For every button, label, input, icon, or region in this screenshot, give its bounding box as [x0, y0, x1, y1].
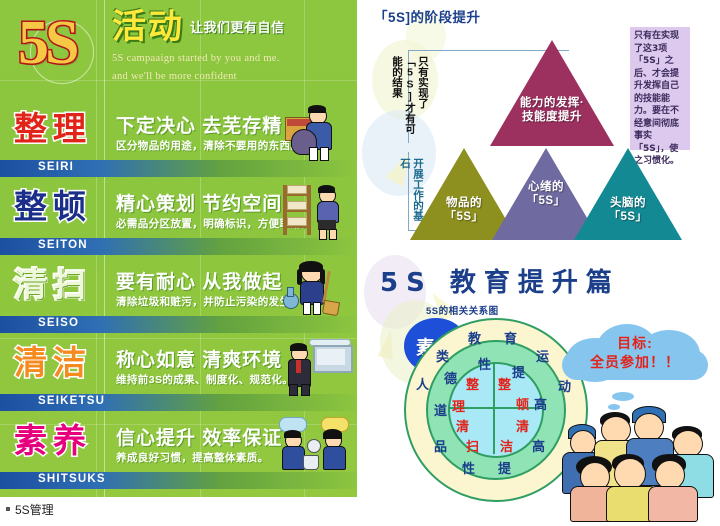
row-kanji-seiketsu: 清洁 — [14, 343, 106, 383]
mid-char-4: 高 — [534, 394, 547, 413]
triangle-base-mind — [574, 148, 682, 240]
row-romaji-seiton: SEITON — [38, 239, 88, 251]
triangle-base-mind-label: 头脑的 「5S」 — [582, 196, 674, 224]
header-title-cn: 活动 — [112, 6, 184, 48]
row-art-man-on-shelf-ladder — [279, 183, 353, 239]
people-illustration — [560, 398, 716, 520]
row-slogan-seiri: 下定决心 去芜存精 — [116, 111, 282, 138]
row-kanji-shitsuke: 素养 — [14, 421, 106, 461]
inner-char-7: 洁 — [500, 436, 513, 455]
poster-caption: 5S管理 — [6, 501, 54, 518]
row-art-man-presenting-board — [279, 339, 353, 395]
mid-char-2: 性 — [478, 354, 491, 373]
header-subtitle-cn: 让我们更有自信 — [190, 17, 285, 36]
poster-header-text: 活动让我们更有自信 5S campaaign started by you an… — [112, 6, 352, 84]
header-english-line1: 5S campaaign started by you and me. — [112, 52, 352, 66]
mid-char-6: 性 — [462, 458, 475, 477]
5s-logo: 5S — [18, 14, 114, 90]
bullet-icon — [6, 507, 10, 511]
outer-char-2: 教 — [468, 328, 481, 347]
poster-caption-text: 5S管理 — [15, 503, 54, 517]
purple-note-box: 只有在实现了这3项「5S」之后、才会提升发挥自己的技能能力。要在不经意间彻底事实… — [630, 27, 690, 150]
inner-char-3: 顿 — [516, 394, 529, 413]
inner-char-6: 扫 — [466, 436, 479, 455]
mid-char-1: 德 — [444, 368, 457, 387]
poster-row-seiri: 整理 下定决心 去芜存精 区分物品的用途，清除不要用的东西。 SEIRI — [0, 105, 357, 183]
left-note-top: 只有实现了「5S]才有可能的结果 — [390, 56, 429, 142]
outer-char-3: 育 — [504, 328, 517, 347]
row-kanji-seiso: 清扫 — [14, 265, 106, 305]
triangle-top-capability — [490, 40, 614, 146]
inner-char-0: 整 — [466, 374, 479, 393]
triangle-top-label: 能力的发挥· 技能度提升 — [498, 96, 606, 124]
outer-char-1: 类 — [436, 346, 449, 365]
cloud-line2: 全员参加！！ — [560, 353, 710, 372]
inner-char-5: 清 — [516, 416, 529, 435]
page-root: 5S 活动让我们更有自信 5S campaaign started by you… — [0, 0, 720, 526]
row-romaji-seiri: SEIRI — [38, 161, 74, 173]
inner-char-1: 整 — [498, 374, 511, 393]
mid-char-0: 道 — [434, 400, 447, 419]
triangle-top-line1: 能力的发挥· — [498, 96, 606, 110]
poster-row-seiketsu: 清洁 称心如意 清爽环境 维持前3S的成果、制度化、规范化。 SEIKETSU — [0, 339, 357, 417]
row-desc-seiri: 区分物品的用途，清除不要用的东西。 — [116, 138, 301, 153]
row-desc-seiso: 清除垃圾和赃污，并防止污染的发生。 — [116, 294, 301, 309]
inner-char-4: 清 — [456, 416, 469, 435]
row-desc-shitsuke: 养成良好习惯，提高整体素质。 — [116, 450, 269, 465]
row-kanji-seiton: 整顿 — [14, 187, 106, 227]
row-slogan-shitsuke: 信心提升 效率保证 — [116, 423, 282, 450]
logo-text: 5S — [18, 8, 75, 79]
cloud-line1: 目标: — [560, 334, 710, 353]
cloud-text: 目标: 全员参加！！ — [560, 334, 710, 372]
inner-char-2: 理 — [452, 396, 465, 415]
poster-row-shitsuke: 素养 信心提升 效率保证 养成良好习惯，提高整体素质。 SHITSUKS — [0, 417, 357, 495]
row-slogan-seiton: 精心策划 节约空间 — [116, 189, 282, 216]
row-romaji-seiso: SEISO — [38, 317, 79, 329]
right-panel-title: 「5S]的阶段提升 — [374, 6, 481, 26]
person7-body — [648, 486, 698, 522]
mid-char-3: 提 — [512, 362, 525, 381]
mid-char-7: 提 — [498, 458, 511, 477]
row-romaji-seiketsu: SEIKETSU — [38, 395, 105, 407]
row-art-two-people-greeting — [279, 417, 353, 473]
row-art-girl-with-broom — [279, 261, 353, 317]
poster-header: 5S 活动让我们更有自信 5S campaaign started by you… — [0, 0, 357, 105]
poster-row-seiso: 清扫 要有耐心 从我做起 清除垃圾和赃污，并防止污染的发生。 SEISO — [0, 261, 357, 339]
mid-char-8: 高 — [532, 436, 545, 455]
section-title: 5S 教育提升篇 — [380, 262, 620, 299]
relationship-ring-diagram: 素养 人 类 教 育 运 动 道 德 性 提 高 品 性 提 高 整 整 理 顿… — [404, 318, 584, 498]
row-art-man-sorting-boxes — [279, 105, 353, 161]
poster-row-seiton: 整顿 精心策划 节约空间 必需品分区放置，明确标识，方便取用。 SEITON — [0, 183, 357, 261]
mid-char-5: 品 — [434, 436, 447, 455]
row-slogan-seiso: 要有耐心 从我做起 — [116, 267, 282, 294]
row-desc-seiketsu: 维持前3S的成果、制度化、规范化。 — [116, 372, 293, 387]
triangle-mind-line2: 「5S」 — [582, 210, 674, 224]
row-romaji-shitsuke: SHITSUKS — [38, 473, 106, 485]
triangle-top-line2: 技能度提升 — [498, 110, 606, 124]
goal-cloud-callout: 目标: 全员参加！！ — [560, 320, 710, 386]
row-kanji-seiri: 整理 — [14, 109, 106, 149]
left-poster: 5S 活动让我们更有自信 5S campaaign started by you… — [0, 0, 357, 497]
row-slogan-seiketsu: 称心如意 清爽环境 — [116, 345, 282, 372]
outer-char-0: 人 — [416, 374, 429, 393]
right-panel: 「5S]的阶段提升 只有实现了「5S]才有可能的结果 开展工作的基石 只有在实现… — [362, 0, 720, 526]
triangle-mind-line1: 头脑的 — [582, 196, 674, 210]
header-english-line2: and we'll be more confident — [112, 70, 352, 84]
outer-char-4: 运 — [536, 346, 549, 365]
diagram-caption: 5S的相关关系图 — [426, 303, 499, 317]
